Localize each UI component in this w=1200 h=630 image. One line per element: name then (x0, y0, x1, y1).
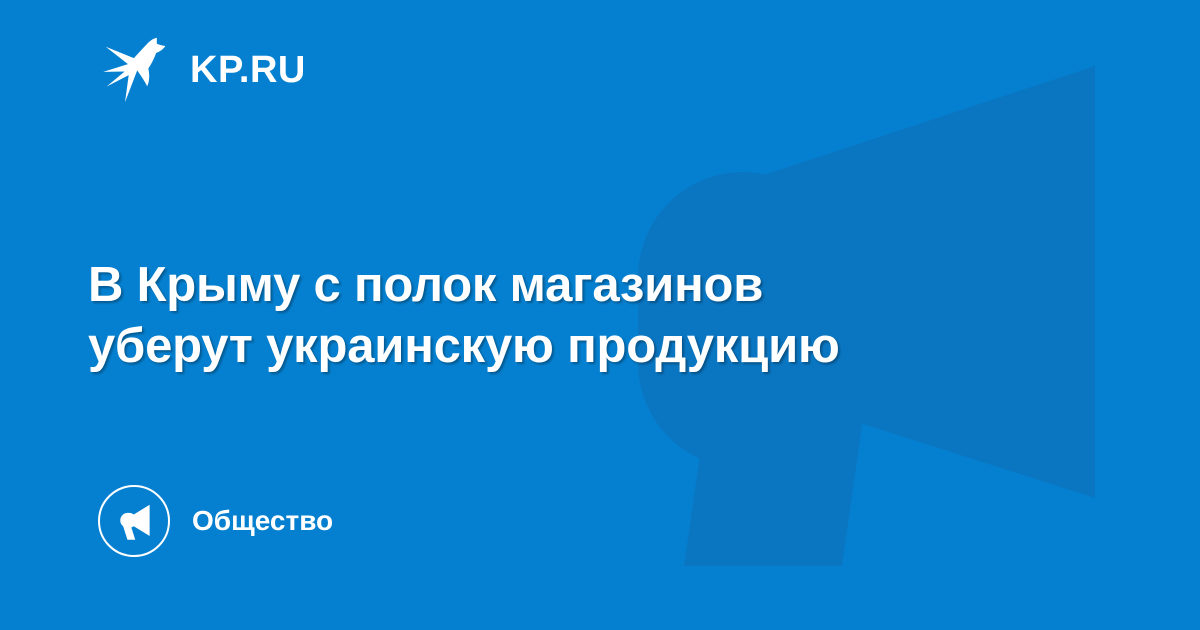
brand-logo[interactable]: KP.RU (98, 33, 306, 107)
megaphone-icon (114, 501, 154, 541)
page-title: В Крыму с полок магазинов уберут украинс… (88, 255, 988, 378)
headline-line-1: В Крыму с полок магазинов (88, 255, 988, 316)
category-badge[interactable]: Общество (98, 485, 333, 557)
headline-line-2: уберут украинскую продукцию (88, 316, 988, 377)
brand-name: KP.RU (190, 51, 306, 89)
swallow-bird-icon (98, 33, 172, 107)
category-label: Общество (192, 507, 333, 535)
category-icon-circle (98, 485, 170, 557)
share-card: KP.RU В Крыму с полок магазинов уберут у… (0, 0, 1200, 630)
